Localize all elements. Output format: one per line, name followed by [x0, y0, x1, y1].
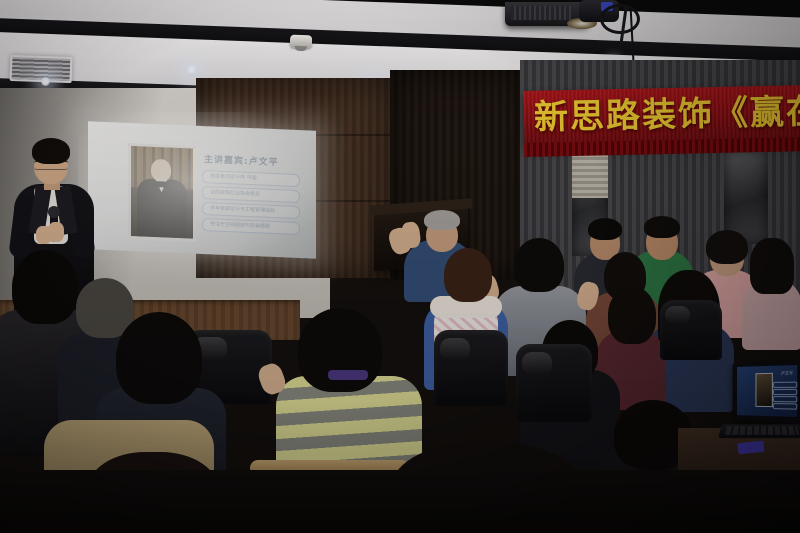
laptop-slide-title: 卢文平: [781, 370, 793, 376]
banner-text: 新思路装饰《赢在: [534, 89, 800, 141]
attendee-hair: [588, 218, 622, 240]
attendee-hair: [424, 210, 460, 230]
projection-screen: 主讲嘉宾:卢文平 高级室内设计师 中国 全国装饰行业协会会员 多年家装设计与工程…: [88, 121, 316, 259]
attendee-hair: [750, 238, 794, 294]
presenter-hair: [32, 138, 70, 164]
microphone-head-icon: [48, 206, 60, 218]
laptop-slide-bullet: [773, 382, 797, 388]
slide-portrait-photo: [128, 143, 196, 242]
laptop-slide-bullet: [773, 403, 797, 410]
lanyard: [328, 370, 368, 380]
laptop-screen: 卢文平: [737, 365, 797, 417]
usb-device: [737, 441, 764, 455]
laptop-slide-bullet: [773, 389, 797, 395]
slide-bullet-bar: 专注于空间规划与软装搭配: [202, 218, 300, 235]
laptop-keyboard[interactable]: [725, 426, 799, 435]
laptop-lid: 卢文平: [733, 361, 800, 424]
slide-bullet-text: 多年家装设计与工程管理经验: [210, 204, 275, 214]
attendee-hair: [644, 216, 680, 238]
cable-loop: [600, 4, 640, 34]
laptop[interactable]: 卢文平: [718, 362, 800, 454]
slide-bullet-bar: 多年家装设计与工程管理经验: [202, 202, 300, 219]
attendee-hair: [444, 248, 492, 302]
slide-bullet-bar: 高级室内设计师 中国: [202, 170, 300, 187]
chair: [660, 300, 722, 360]
bowtie-icon: [155, 181, 168, 188]
chair: [516, 344, 592, 422]
slide-title: 主讲嘉宾:卢文平: [204, 152, 279, 168]
slide-bullet-text: 全国装饰行业协会会员: [210, 188, 260, 197]
attendee-right-edge: [742, 238, 800, 348]
floor: [0, 470, 800, 533]
downlight-icon: [40, 76, 51, 87]
laptop-keyboard-base[interactable]: [718, 425, 800, 439]
chair: [434, 330, 508, 406]
attendee-hair: [116, 312, 202, 404]
attendee-hair: [514, 238, 564, 292]
downlight-icon: [186, 64, 197, 75]
projector-vent: [511, 6, 571, 20]
presenter-hand-right: [48, 222, 64, 242]
smoke-detector-icon: [290, 35, 312, 49]
projected-slide: 主讲嘉宾:卢文平 高级室内设计师 中国 全国装饰行业协会会员 多年家装设计与工程…: [88, 121, 316, 259]
slide-bullet-text: 高级室内设计师 中国: [210, 172, 257, 181]
slide-bullet-text: 专注于空间规划与软装搭配: [210, 220, 270, 230]
portrait-head: [151, 159, 171, 182]
photo-scene: 新思路装饰《赢在 主讲嘉宾:卢文平 高级室内设计师 中国 全国装饰行业协会会员 …: [0, 0, 800, 533]
laptop-slide-bullet: [773, 396, 797, 402]
slide-bullet-bar: 全国装饰行业协会会员: [202, 186, 300, 203]
laptop-slide-portrait: [755, 373, 772, 407]
